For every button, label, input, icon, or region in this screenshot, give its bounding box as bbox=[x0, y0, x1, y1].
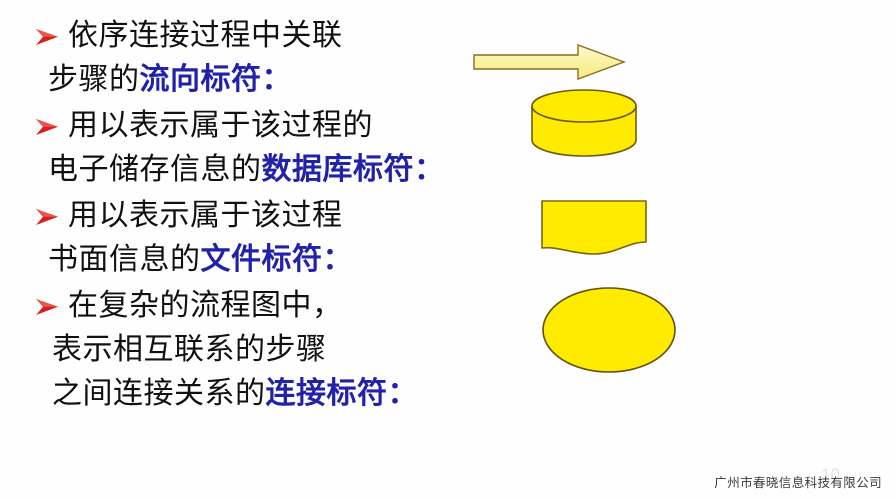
bullet-2-line-2-suffix: ： bbox=[414, 152, 445, 187]
bullet-4-line-3-suffix: ： bbox=[388, 376, 419, 411]
bullet-3-line-1-text: 用以表示属于该过程 bbox=[68, 198, 343, 233]
document-shape bbox=[536, 196, 652, 260]
flow-arrow-shape bbox=[468, 40, 632, 84]
bullet-2-line-2-prefix: 电子储存信息的 bbox=[48, 152, 262, 187]
bullet-list: 依序连接过程中关联 步骤的流向标符： 用以表示属于该过程的 电子储存信息的数据库… bbox=[30, 14, 530, 418]
bullet-4-line-3-highlight: 连接标符 bbox=[266, 376, 388, 411]
footer-company-label: 广州市春晓信息科技有限公司 bbox=[714, 472, 882, 491]
bullet-3-line-2-suffix: ： bbox=[323, 242, 354, 277]
bullet-3-line-2-prefix: 书面信息的 bbox=[48, 242, 201, 277]
arrowhead-bullet-icon bbox=[32, 21, 62, 51]
bullet-4-line-2: 表示相互联系的步骤 bbox=[30, 328, 530, 372]
bullet-3-line-1: 用以表示属于该过程 bbox=[30, 194, 530, 238]
bullet-4-line-3-prefix: 之间连接关系的 bbox=[52, 376, 266, 411]
bullet-1-line-2-suffix: ： bbox=[262, 62, 293, 97]
bullet-3-line-2-highlight: 文件标符 bbox=[201, 242, 323, 277]
bullet-1-line-2-highlight: 流向标符 bbox=[140, 62, 262, 97]
bullet-4-line-1-text: 在复杂的流程图中， bbox=[68, 288, 343, 323]
database-cylinder-shape bbox=[526, 86, 642, 166]
bullet-1-line-2-prefix: 步骤的 bbox=[48, 62, 140, 97]
bullet-4-line-2-text: 表示相互联系的步骤 bbox=[52, 332, 327, 367]
arrowhead-bullet-icon bbox=[32, 111, 62, 141]
bullet-1-line-1: 依序连接过程中关联 bbox=[30, 14, 530, 58]
connector-ellipse-shape bbox=[536, 282, 682, 378]
bullet-2-line-1-text: 用以表示属于该过程的 bbox=[68, 108, 373, 143]
bullet-item-2: 用以表示属于该过程的 电子储存信息的数据库标符： bbox=[30, 104, 530, 192]
bullet-2-line-2: 电子储存信息的数据库标符： bbox=[30, 148, 530, 192]
bullet-1-line-2: 步骤的流向标符： bbox=[30, 58, 530, 102]
arrowhead-bullet-icon bbox=[32, 201, 62, 231]
bullet-item-1: 依序连接过程中关联 步骤的流向标符： bbox=[30, 14, 530, 102]
bullet-2-line-1: 用以表示属于该过程的 bbox=[30, 104, 530, 148]
bullet-4-line-3: 之间连接关系的连接标符： bbox=[30, 372, 530, 416]
bullet-4-line-1: 在复杂的流程图中， bbox=[30, 284, 530, 328]
slide-canvas: 依序连接过程中关联 步骤的流向标符： 用以表示属于该过程的 电子储存信息的数据库… bbox=[0, 0, 896, 499]
bullet-3-line-2: 书面信息的文件标符： bbox=[30, 238, 530, 282]
bullet-2-line-2-highlight: 数据库标符 bbox=[262, 152, 415, 187]
bullet-item-3: 用以表示属于该过程 书面信息的文件标符： bbox=[30, 194, 530, 282]
bullet-item-4: 在复杂的流程图中， 表示相互联系的步骤 之间连接关系的连接标符： bbox=[30, 284, 530, 416]
bullet-1-line-1-text: 依序连接过程中关联 bbox=[68, 18, 343, 53]
arrowhead-bullet-icon bbox=[32, 291, 62, 321]
